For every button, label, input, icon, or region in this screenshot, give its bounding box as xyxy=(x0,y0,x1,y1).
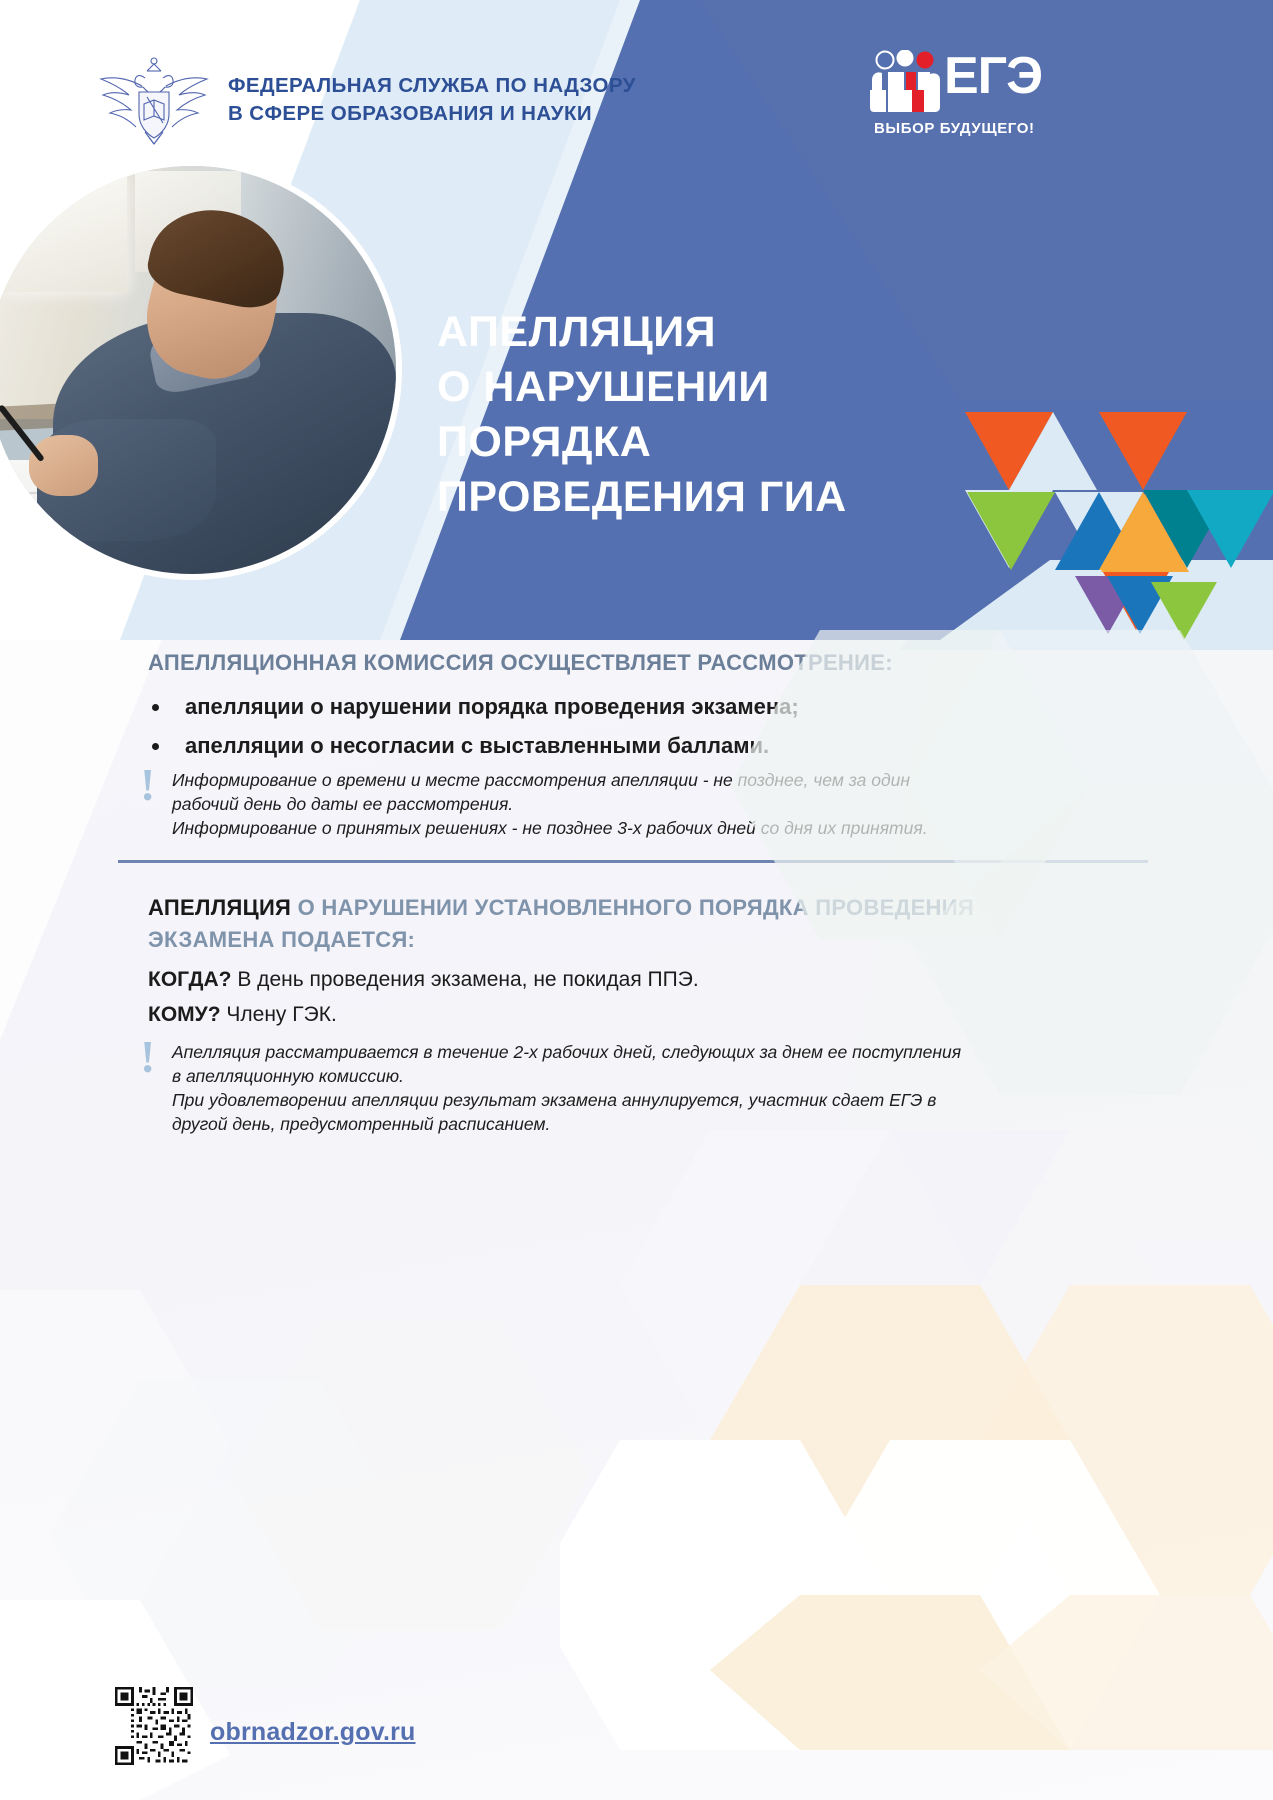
bullet-dot-icon xyxy=(152,704,159,711)
page-title-line-1: АПЕЛЛЯЦИЯ xyxy=(437,305,997,360)
list-item: апелляции о несогласии с выставленными б… xyxy=(150,731,1050,761)
federal-service-line-1: ФЕДЕРАЛЬНАЯ СЛУЖБА ПО НАДЗОРУ xyxy=(228,72,708,100)
section1-note-text: Информирование о времени и месте рассмот… xyxy=(172,768,970,840)
section1-note-line-1: Информирование о времени и месте рассмот… xyxy=(172,768,970,816)
list-item-label: апелляции о нарушении порядка проведения… xyxy=(185,692,799,722)
three-people-ege-icon xyxy=(868,50,944,116)
poster-root: ФЕДЕРАЛЬНАЯ СЛУЖБА ПО НАДЗОРУ В СФЕРЕ ОБ… xyxy=(0,0,1273,1800)
section1-heading: АПЕЛЛЯЦИОННАЯ КОМИССИЯ ОСУЩЕСТВЛЯЕТ РАСС… xyxy=(148,650,1048,676)
page-title-line-3: ПОРЯДКА xyxy=(437,415,997,470)
federal-service-line-2: В СФЕРЕ ОБРАЗОВАНИЯ И НАУКИ xyxy=(228,100,708,128)
photo-window-pane-left xyxy=(4,176,126,292)
section2-qa-list: КОГДА? В день проведения экзамена, не по… xyxy=(148,962,1008,1032)
ege-logo: ЕГЭ ВЫБОР БУДУЩЕГО! xyxy=(868,44,1038,144)
section2-heading-bold: АПЕЛЛЯЦИЯ xyxy=(148,895,291,920)
list-item: апелляции о нарушении порядка проведения… xyxy=(150,692,1050,722)
page-title-line-4: ПРОВЕДЕНИЯ ГИА xyxy=(437,470,997,525)
federal-service-caption: ФЕДЕРАЛЬНАЯ СЛУЖБА ПО НАДЗОРУ В СФЕРЕ ОБ… xyxy=(228,72,708,128)
section2-note-text: Апелляция рассматривается в течение 2-х … xyxy=(172,1040,970,1136)
qa-label-to-whom: КОМУ? xyxy=(148,1003,221,1026)
section2-heading: АПЕЛЛЯЦИЯ О НАРУШЕНИИ УСТАНОВЛЕННОГО ПОР… xyxy=(148,892,1028,956)
qa-label-when: КОГДА? xyxy=(148,968,232,991)
bullet-dot-icon xyxy=(152,743,159,750)
website-url-link[interactable]: obrnadzor.gov.ru xyxy=(210,1718,416,1747)
qa-row-to-whom: КОМУ? Члену ГЭК. xyxy=(148,997,1008,1032)
section1-note-line-2: Информирование о принятых решениях - не … xyxy=(172,816,970,840)
qr-code-icon xyxy=(115,1687,193,1765)
list-item-label: апелляции о несогласии с выставленными б… xyxy=(185,731,769,761)
ege-logo-text: ЕГЭ xyxy=(944,46,1042,106)
section1-bullet-list: апелляции о нарушении порядка проведения… xyxy=(150,692,1050,770)
qa-value-when: В день проведения экзамена, не покидая П… xyxy=(237,968,698,991)
double-headed-eagle-emblem-icon xyxy=(95,52,213,147)
section1-note: ! Информирование о времени и месте рассм… xyxy=(140,768,970,840)
qa-value-to-whom: Члену ГЭК. xyxy=(226,1003,336,1026)
section-divider xyxy=(118,860,1148,863)
exclamation-mark-icon: ! xyxy=(140,768,154,802)
page-title-line-2: О НАРУШЕНИИ xyxy=(437,360,997,415)
student-writing-photo xyxy=(0,160,402,580)
section2-note-line-1: Апелляция рассматривается в течение 2-х … xyxy=(172,1040,970,1088)
ege-logo-tagline: ВЫБОР БУДУЩЕГО! xyxy=(874,120,1074,137)
page-title: АПЕЛЛЯЦИЯ О НАРУШЕНИИ ПОРЯДКА ПРОВЕДЕНИЯ… xyxy=(437,305,997,525)
qa-row-when: КОГДА? В день проведения экзамена, не по… xyxy=(148,962,1008,997)
exclamation-mark-icon: ! xyxy=(140,1040,154,1074)
section2-note-line-2: При удовлетворении апелляции результат э… xyxy=(172,1088,970,1136)
photo-student-hand xyxy=(29,435,98,496)
section2-note: ! Апелляция рассматривается в течение 2-… xyxy=(140,1040,970,1136)
